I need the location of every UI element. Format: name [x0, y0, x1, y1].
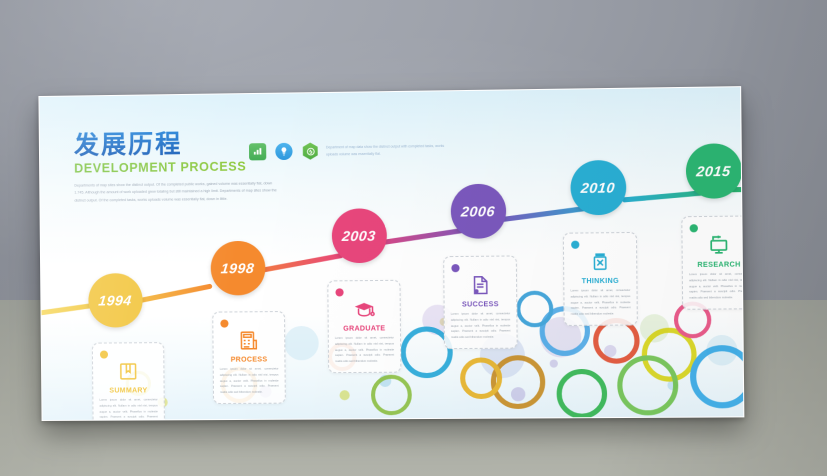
- milestone-card-2003[interactable]: GRADUATE Lorem ipsum dolor sit amet, con…: [327, 280, 401, 373]
- milestone-card-2015[interactable]: RESEARCH Lorem ipsum dolor sit amet, con…: [681, 215, 744, 309]
- timeline-node-2010-label: 2010: [581, 179, 617, 196]
- milestone-card-title: RESEARCH: [689, 261, 744, 269]
- milestone-card-body: Lorem ipsum dolor sit amet, consectetur …: [571, 288, 631, 318]
- person-idea-icon: [570, 246, 630, 273]
- timeline-node-2006[interactable]: 2006: [451, 184, 507, 239]
- timeline-node-1998[interactable]: 1998: [211, 241, 266, 296]
- timeline-node-2003[interactable]: 2003: [332, 208, 387, 263]
- timeline-node-1994-label: 1994: [98, 292, 133, 308]
- milestone-card-1994[interactable]: SUMMARY Lorem ipsum dolor sit amet, cons…: [92, 342, 165, 421]
- timeline-node-2006-label: 2006: [461, 203, 496, 220]
- milestone-card-title: PROCESS: [220, 356, 279, 363]
- milestone-card-body: Lorem ipsum dolor sit amet, consectetur …: [689, 272, 744, 302]
- timeline-node-1994[interactable]: 1994: [88, 273, 143, 328]
- certificate-icon: [450, 270, 510, 297]
- card-dot-icon: [690, 224, 698, 232]
- card-dot-icon: [451, 264, 459, 272]
- milestone-card-2006[interactable]: SUCCESS Lorem ipsum dolor sit amet, cons…: [443, 255, 518, 349]
- card-dot-icon: [335, 288, 343, 296]
- milestone-card-body: Lorem ipsum dolor sit amet, consectetur …: [220, 366, 279, 396]
- milestone-card-1998[interactable]: PROCESS Lorem ipsum dolor sit amet, cons…: [212, 311, 286, 404]
- card-dot-icon: [571, 241, 579, 249]
- milestone-card-title: SUCCESS: [451, 301, 510, 309]
- milestone-card-body: Lorem ipsum dolor sit amet, consectetur …: [451, 311, 511, 341]
- milestone-card-body: Lorem ipsum dolor sit amet, consectetur …: [99, 397, 158, 421]
- poster-canvas: 发展历程 DEVELOPMENT PROCESS Departments of …: [38, 86, 744, 421]
- notebook-icon: [99, 356, 157, 382]
- milestone-card-title: SUMMARY: [99, 387, 157, 394]
- card-dot-icon: [220, 320, 228, 328]
- calculator-icon: [219, 325, 278, 352]
- graduation-cap-icon: [335, 294, 394, 321]
- card-dot-icon: [100, 351, 108, 359]
- poster: 发展历程 DEVELOPMENT PROCESS Departments of …: [38, 86, 744, 421]
- milestone-card-title: THINKING: [570, 278, 630, 286]
- timeline-node-2015-label: 2015: [696, 163, 732, 180]
- monitor-icon: [689, 230, 745, 257]
- timeline-node-2003-label: 2003: [342, 228, 377, 244]
- timeline-node-1998-label: 1998: [221, 260, 256, 276]
- milestone-card-title: GRADUATE: [335, 325, 394, 333]
- milestone-card-body: Lorem ipsum dolor sit amet, consectetur …: [335, 335, 394, 365]
- milestone-card-2010[interactable]: THINKING Lorem ipsum dolor sit amet, con…: [563, 232, 638, 326]
